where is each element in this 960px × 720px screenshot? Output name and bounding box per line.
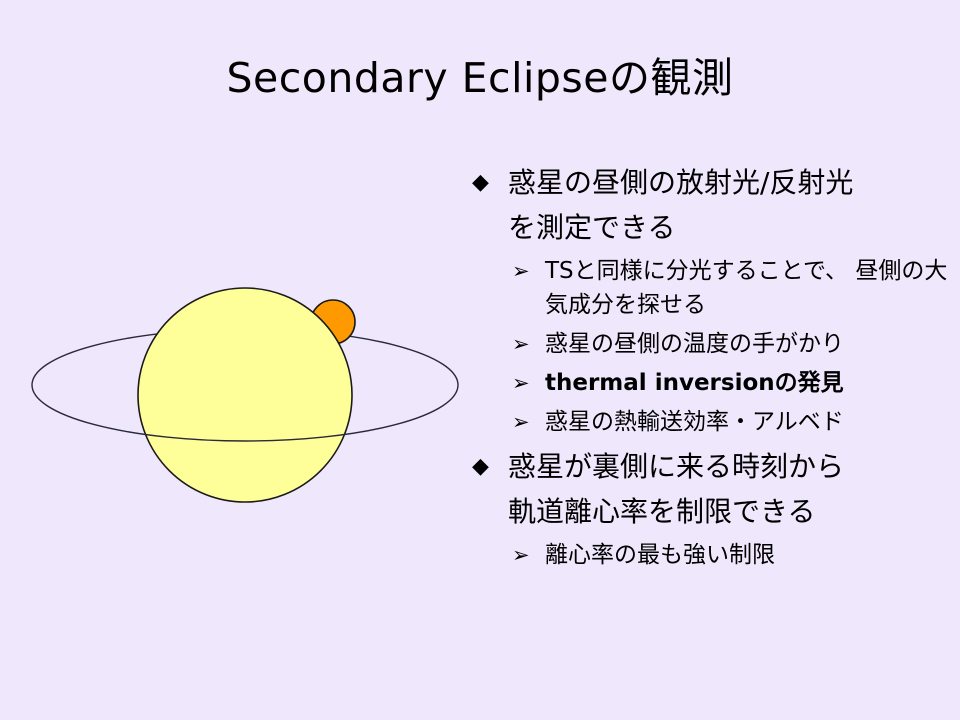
bullet-level2: ➢ 離心率の最も強い制限 — [470, 538, 950, 572]
bullet-level2-line: thermal inversionの発見 — [545, 370, 844, 396]
bullet-level2-line: 惑星の熱輸送効率・アルベド — [545, 409, 844, 435]
arrow-bullet-icon: ➢ — [512, 538, 530, 572]
bullet-level1-line: を測定できる — [508, 205, 950, 250]
arrow-bullet-icon: ➢ — [512, 366, 530, 400]
diamond-bullet-icon: ◆ — [472, 444, 489, 489]
arrow-bullet-icon: ➢ — [512, 327, 530, 361]
bullet-level2: ➢ thermal inversionの発見 — [470, 366, 950, 400]
bullet-level1: ◆ 惑星の昼側の放射光/反射光 を測定できる — [470, 160, 950, 250]
bullet-level1-line: 惑星の昼側の放射光/反射光 — [508, 160, 950, 205]
bullet-level2-line: TSと同様に分光することで、 — [545, 258, 848, 284]
bullet-level2: ➢ TSと同様に分光することで、 昼側の大気成分を探せる — [470, 254, 950, 322]
diamond-bullet-icon: ◆ — [472, 160, 489, 205]
arrow-bullet-icon: ➢ — [512, 254, 530, 288]
arrow-bullet-icon: ➢ — [512, 405, 530, 439]
page-title-latin: Secondary Eclipse — [226, 54, 609, 102]
star-disk — [138, 288, 352, 502]
bullet-level1: ◆ 惑星が裏側に来る時刻から 軌道離心率を制限できる — [470, 444, 950, 534]
bullet-level2-line: 惑星の昼側の温度の手がかり — [545, 331, 844, 357]
sub-bullet-group: ➢ 離心率の最も強い制限 — [470, 538, 950, 572]
bullet-level1-line: 惑星が裏側に来る時刻から — [508, 444, 950, 489]
page-title-japanese: の観測 — [609, 54, 734, 102]
page-title: Secondary Eclipseの観測 — [0, 52, 960, 104]
secondary-eclipse-diagram — [0, 260, 480, 520]
bullet-level2-line: 離心率の最も強い制限 — [545, 542, 775, 568]
bullet-content: ◆ 惑星の昼側の放射光/反射光 を測定できる ➢ TSと同様に分光することで、 … — [470, 160, 950, 577]
slide-canvas: Secondary Eclipseの観測 — [0, 0, 960, 720]
bullet-level2: ➢ 惑星の昼側の温度の手がかり — [470, 327, 950, 361]
diagram-svg — [0, 260, 480, 530]
sub-bullet-group: ➢ TSと同様に分光することで、 昼側の大気成分を探せる ➢ 惑星の昼側の温度の… — [470, 254, 950, 439]
bullet-level2: ➢ 惑星の熱輸送効率・アルベド — [470, 405, 950, 439]
bullet-level1-line: 軌道離心率を制限できる — [508, 489, 950, 534]
